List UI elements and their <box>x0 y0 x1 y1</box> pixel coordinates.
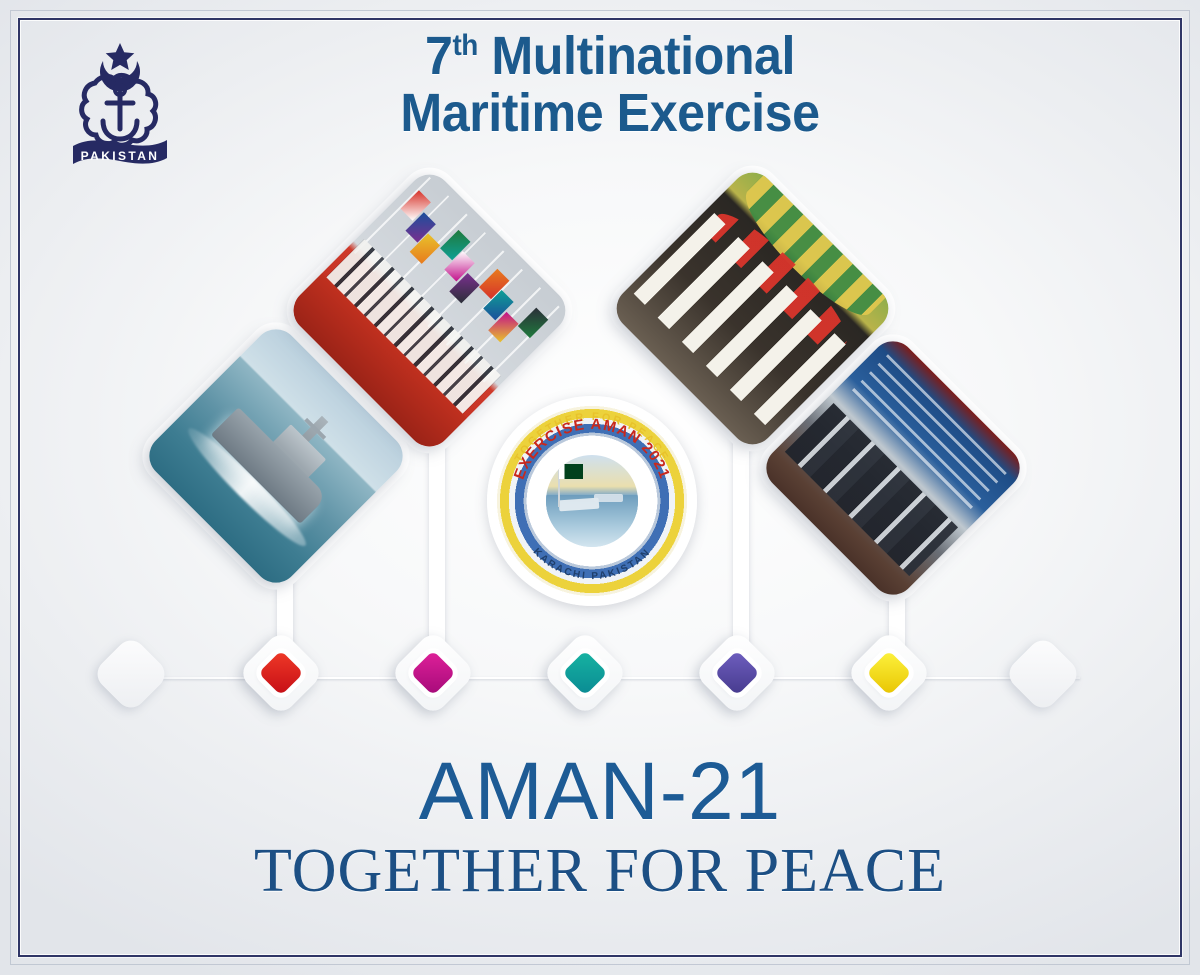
timeline-marker-teal[interactable] <box>542 628 628 728</box>
timeline-cap-left-shape <box>91 634 170 713</box>
photo-node-seminar-panel <box>0 0 192 192</box>
exercise-aman-2021-emblem-icon: TOGETHER FOR PEACE EXERCISE AMAN 2021 KA… <box>487 396 697 606</box>
footer-tagline: TOGETHER FOR PEACE <box>0 836 1200 907</box>
emblem-pakistan-flag <box>559 464 583 479</box>
timeline-cap-right[interactable] <box>1000 628 1086 728</box>
footer-title: AMAN-21 <box>0 745 1200 839</box>
emblem-arc-bottom-label: KARACHI PAKISTAN <box>531 546 654 582</box>
emblem-center-scene <box>546 455 638 547</box>
svg-text:KARACHI PAKISTAN: KARACHI PAKISTAN <box>531 546 654 582</box>
timeline <box>0 628 1200 738</box>
timeline-marker-yellow[interactable] <box>846 628 932 728</box>
timeline-cap-left[interactable] <box>88 628 174 728</box>
timeline-marker-purple[interactable] <box>694 628 780 728</box>
emblem-ship-background <box>594 494 623 502</box>
poster-canvas: PAKISTAN 7th Multinational Maritime Exer… <box>0 0 1200 975</box>
timeline-cap-right-shape <box>1003 634 1082 713</box>
timeline-marker-magenta[interactable] <box>390 628 476 728</box>
timeline-marker-red[interactable] <box>238 628 324 728</box>
